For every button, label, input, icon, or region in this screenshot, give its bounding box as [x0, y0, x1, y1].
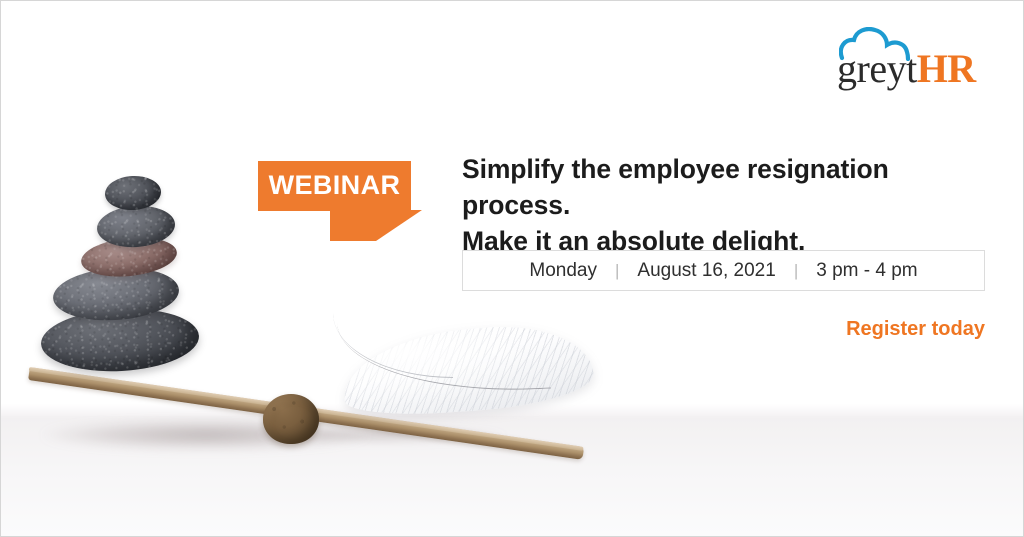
- cork-ball-fulcrum-icon: [263, 394, 319, 444]
- page-title: Simplify the employee resignation proces…: [462, 151, 1002, 259]
- logo-text-greyt: greyt: [837, 46, 917, 91]
- webinar-badge: WEBINAR: [258, 161, 411, 211]
- greythr-logo[interactable]: greytHR: [837, 27, 989, 85]
- badge-tail-left: [330, 210, 422, 241]
- schedule-date: August 16, 2021: [635, 260, 777, 282]
- headline-line-1: Simplify the employee resignation proces…: [462, 151, 1002, 223]
- schedule-day: Monday: [527, 260, 599, 282]
- schedule-separator-2: |: [778, 261, 814, 281]
- logo-wordmark: greytHR: [837, 49, 976, 89]
- schedule-separator-1: |: [599, 261, 635, 281]
- badge-tail-point: [362, 210, 376, 241]
- stone-top: [104, 175, 162, 212]
- badge-label: WEBINAR: [258, 161, 411, 211]
- stone-stack: [31, 176, 251, 376]
- schedule-time: 3 pm - 4 pm: [814, 260, 919, 282]
- register-today-link[interactable]: Register today: [462, 318, 985, 341]
- schedule-inner: Monday | August 16, 2021 | 3 pm - 4 pm: [527, 260, 919, 282]
- webinar-banner: greytHR WEBINAR Simplify the employee re…: [0, 0, 1024, 537]
- schedule-bar: Monday | August 16, 2021 | 3 pm - 4 pm: [462, 250, 985, 291]
- logo-text-hr: HR: [917, 46, 976, 91]
